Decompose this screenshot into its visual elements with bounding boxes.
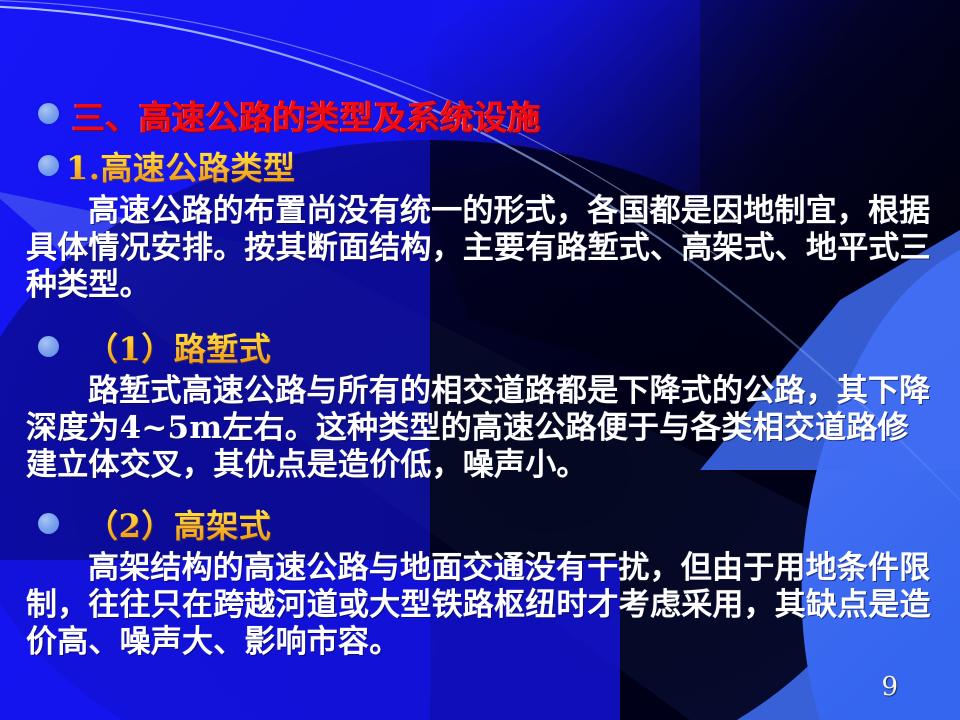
presentation-slide: 三、高速公路的类型及系统设施 1.高速公路类型 高速公路的布置尚没有统一的形式，… xyxy=(0,0,960,720)
heading-cut-section-type: （1）路堑式 xyxy=(86,324,271,370)
bullet-marker-3 xyxy=(38,336,59,357)
slide-content: 三、高速公路的类型及系统设施 1.高速公路类型 高速公路的布置尚没有统一的形式，… xyxy=(0,0,960,720)
paragraph-text-3: 高架结构的高速公路与地面交通没有干扰，但由于用地条件限制，往往只在跨越河道或大型… xyxy=(26,550,931,660)
paragraph-text-1: 高速公路的布置尚没有统一的形式，各国都是因地制宜，根据具体情况安排。按其断面结构… xyxy=(26,193,931,303)
bullet-marker-4 xyxy=(38,513,59,534)
page-number: 9 xyxy=(881,672,898,702)
paragraph-cut-section-type: 路堑式高速公路与所有的相交道路都是下降式的公路，其下降深度为4~5m左右。这种类… xyxy=(26,373,934,484)
bullet-marker-2 xyxy=(38,155,59,176)
paragraph-highway-types: 高速公路的布置尚没有统一的形式，各国都是因地制宜，根据具体情况安排。按其断面结构… xyxy=(26,193,934,304)
heading-highway-types: 1.高速公路类型 xyxy=(66,143,295,189)
heading-elevated-type: （2）高架式 xyxy=(86,501,271,547)
heading-section-three: 三、高速公路的类型及系统设施 xyxy=(72,91,541,139)
paragraph-elevated-type: 高架结构的高速公路与地面交通没有干扰，但由于用地条件限制，往往只在跨越河道或大型… xyxy=(26,550,934,661)
paragraph-text-2: 路堑式高速公路与所有的相交道路都是下降式的公路，其下降深度为4~5m左右。这种类… xyxy=(26,373,930,483)
bullet-marker-1 xyxy=(38,103,59,124)
